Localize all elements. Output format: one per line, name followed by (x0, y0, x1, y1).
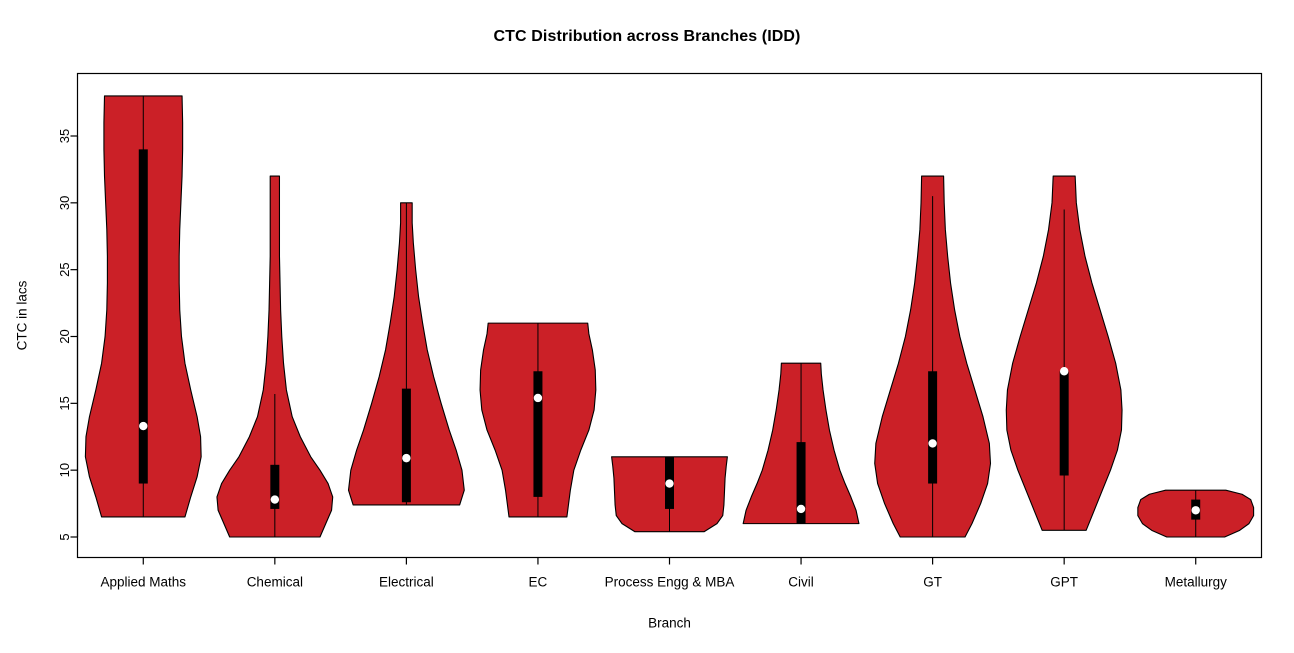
x-axis-category-label: GPT (1050, 575, 1078, 590)
x-axis-category-label: Applied Maths (100, 575, 186, 590)
y-axis: 5101520253035 (57, 129, 78, 541)
violin-plot: 5101520253035CTC in lacsApplied MathsChe… (0, 0, 1294, 653)
violin-chemical[interactable] (217, 176, 333, 537)
x-axis-title: Branch (648, 616, 691, 631)
violin-metallurgy[interactable] (1138, 490, 1254, 537)
violin-electrical[interactable] (349, 203, 465, 505)
median-point (665, 479, 673, 487)
y-axis-tick-label: 20 (57, 329, 72, 343)
x-axis-category-label: GT (923, 575, 942, 590)
y-axis-tick-label: 25 (57, 262, 72, 276)
iqr-box (533, 371, 542, 497)
iqr-box (1060, 371, 1069, 475)
violin-process-engg-mba[interactable] (612, 457, 728, 532)
y-axis-tick-label: 10 (57, 463, 72, 477)
y-axis-tick-label: 15 (57, 396, 72, 410)
violin-ec[interactable] (480, 323, 596, 517)
median-point (1192, 506, 1200, 514)
violin-civil[interactable] (743, 363, 859, 523)
chart-page: CTC Distribution across Branches (IDD) 5… (0, 0, 1294, 653)
x-axis-category-label: EC (529, 575, 548, 590)
y-axis-tick-label: 5 (57, 533, 72, 540)
violin-gt[interactable] (875, 176, 991, 537)
iqr-box (928, 371, 937, 483)
x-axis-category-label: Civil (788, 575, 814, 590)
x-axis-category-label: Chemical (247, 575, 303, 590)
median-point (139, 422, 147, 430)
x-axis-category-label: Process Engg & MBA (605, 575, 735, 590)
violin-gpt[interactable] (1006, 176, 1122, 530)
y-axis-title: CTC in lacs (15, 280, 30, 350)
median-point (534, 394, 542, 402)
median-point (797, 505, 805, 513)
median-point (1060, 367, 1068, 375)
median-point (402, 454, 410, 462)
median-point (928, 439, 936, 447)
median-point (271, 495, 279, 503)
violin-applied-maths[interactable] (85, 96, 201, 517)
x-axis-category-label: Metallurgy (1165, 575, 1228, 590)
x-axis: Applied MathsChemicalElectricalECProcess… (100, 558, 1227, 590)
x-axis-category-label: Electrical (379, 575, 434, 590)
iqr-box (402, 389, 411, 503)
iqr-box (139, 149, 148, 483)
y-axis-tick-label: 30 (57, 196, 72, 210)
y-axis-tick-label: 35 (57, 129, 72, 143)
